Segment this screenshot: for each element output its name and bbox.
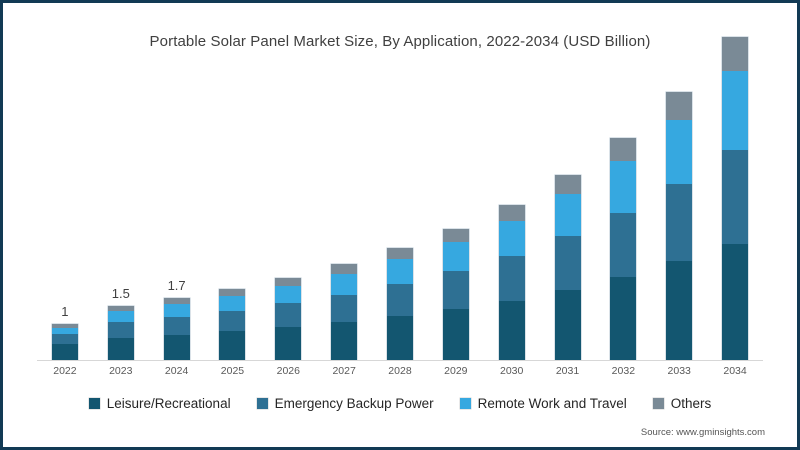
stacked-bar[interactable]: 1 [52, 324, 78, 360]
bar-segment [666, 261, 692, 360]
bar-value-label: 1.5 [112, 286, 130, 301]
stacked-bar[interactable] [275, 278, 301, 360]
stacked-bar[interactable]: 1.5 [108, 306, 134, 360]
bar-column[interactable] [260, 71, 316, 360]
legend-label: Remote Work and Travel [478, 396, 627, 411]
bar-segment [610, 213, 636, 277]
bar-segment [610, 277, 636, 360]
bar-segment [610, 138, 636, 161]
bar-segment [443, 271, 469, 309]
x-tick-label: 2024 [149, 365, 205, 377]
bar-segment [722, 37, 748, 71]
x-tick-label: 2032 [595, 365, 651, 377]
bar-column[interactable] [540, 71, 596, 360]
bar-segment [387, 316, 413, 360]
stacked-bar[interactable] [610, 138, 636, 360]
bar-segment [219, 311, 245, 331]
bar-column[interactable] [651, 71, 707, 360]
stacked-bar[interactable] [555, 175, 581, 360]
bar-column[interactable] [707, 71, 763, 360]
x-tick-label: 2029 [428, 365, 484, 377]
x-tick-label: 2023 [93, 365, 149, 377]
x-tick-label: 2034 [707, 365, 763, 377]
stacked-bar[interactable]: 1.7 [164, 298, 190, 360]
bar-segment [555, 290, 581, 360]
chart-legend: Leisure/RecreationalEmergency Backup Pow… [3, 396, 797, 411]
bar-segment [499, 205, 525, 221]
bar-segment [275, 286, 301, 304]
bar-segment [443, 242, 469, 271]
bar-segment [666, 92, 692, 120]
bar-segment [164, 335, 190, 360]
legend-swatch-icon [460, 398, 471, 409]
bar-segment [443, 309, 469, 360]
bar-segment [443, 229, 469, 242]
legend-swatch-icon [653, 398, 664, 409]
bar-segment [219, 289, 245, 296]
bar-segment [331, 274, 357, 295]
legend-label: Emergency Backup Power [275, 396, 434, 411]
bar-segment [331, 322, 357, 360]
bar-value-label: 1.7 [168, 278, 186, 293]
x-tick-label: 2027 [316, 365, 372, 377]
stacked-bar[interactable] [499, 205, 525, 360]
bar-column[interactable]: 1 [37, 71, 93, 360]
legend-swatch-icon [257, 398, 268, 409]
stacked-bar[interactable] [219, 289, 245, 360]
bar-value-label: 1 [61, 304, 68, 319]
x-axis-tick-labels: 2022202320242025202620272028202920302031… [37, 365, 763, 377]
chart-frame: Portable Solar Panel Market Size, By App… [0, 0, 800, 450]
bar-segment [555, 175, 581, 194]
legend-label: Others [671, 396, 712, 411]
bar-segment [331, 264, 357, 273]
bar-column[interactable] [205, 71, 261, 360]
bar-segment [499, 256, 525, 301]
bar-segment [499, 221, 525, 256]
legend-label: Leisure/Recreational [107, 396, 231, 411]
stacked-bar[interactable] [722, 37, 748, 360]
legend-item[interactable]: Emergency Backup Power [257, 396, 434, 411]
bar-segment [722, 150, 748, 244]
bar-segment [275, 278, 301, 286]
legend-item[interactable]: Leisure/Recreational [89, 396, 231, 411]
bar-segment [164, 317, 190, 335]
bar-column[interactable]: 1.5 [93, 71, 149, 360]
stacked-bar[interactable] [666, 92, 692, 360]
bar-segment [219, 296, 245, 311]
bar-column[interactable] [372, 71, 428, 360]
bar-column[interactable] [428, 71, 484, 360]
x-tick-label: 2026 [260, 365, 316, 377]
stacked-bar[interactable] [331, 264, 357, 360]
bar-segment [499, 301, 525, 360]
bar-column[interactable]: 1.7 [149, 71, 205, 360]
bar-segment [387, 259, 413, 284]
bar-segment [722, 71, 748, 150]
bar-segment [108, 322, 134, 337]
bar-segment [666, 184, 692, 261]
bar-segment [52, 334, 78, 344]
bar-segment [164, 304, 190, 317]
bar-segment [555, 194, 581, 237]
bar-segment [275, 327, 301, 360]
x-tick-label: 2022 [37, 365, 93, 377]
x-axis-line [37, 360, 763, 361]
x-tick-label: 2030 [484, 365, 540, 377]
bar-segment [722, 244, 748, 360]
x-tick-label: 2028 [372, 365, 428, 377]
plot-area: 11.51.7 [37, 71, 763, 361]
stacked-bar[interactable] [387, 248, 413, 360]
bar-segment [610, 161, 636, 213]
x-tick-label: 2031 [540, 365, 596, 377]
bar-column[interactable] [316, 71, 372, 360]
bar-column[interactable] [595, 71, 651, 360]
bar-segment [108, 311, 134, 322]
legend-swatch-icon [89, 398, 100, 409]
bar-segment [387, 284, 413, 316]
bar-column[interactable] [484, 71, 540, 360]
bar-segment [108, 338, 134, 360]
x-tick-label: 2033 [651, 365, 707, 377]
bar-segment [331, 295, 357, 323]
legend-item[interactable]: Others [653, 396, 712, 411]
bar-segment [52, 344, 78, 360]
x-tick-label: 2025 [205, 365, 261, 377]
bar-segment [275, 303, 301, 327]
bar-group: 11.51.7 [37, 71, 763, 360]
source-attribution: Source: www.gminsights.com [641, 427, 765, 438]
bar-segment [387, 248, 413, 259]
stacked-bar[interactable] [443, 229, 469, 360]
bar-segment [666, 120, 692, 184]
legend-item[interactable]: Remote Work and Travel [460, 396, 627, 411]
bar-segment [555, 236, 581, 289]
chart-title: Portable Solar Panel Market Size, By App… [3, 33, 797, 50]
bar-segment [219, 331, 245, 360]
